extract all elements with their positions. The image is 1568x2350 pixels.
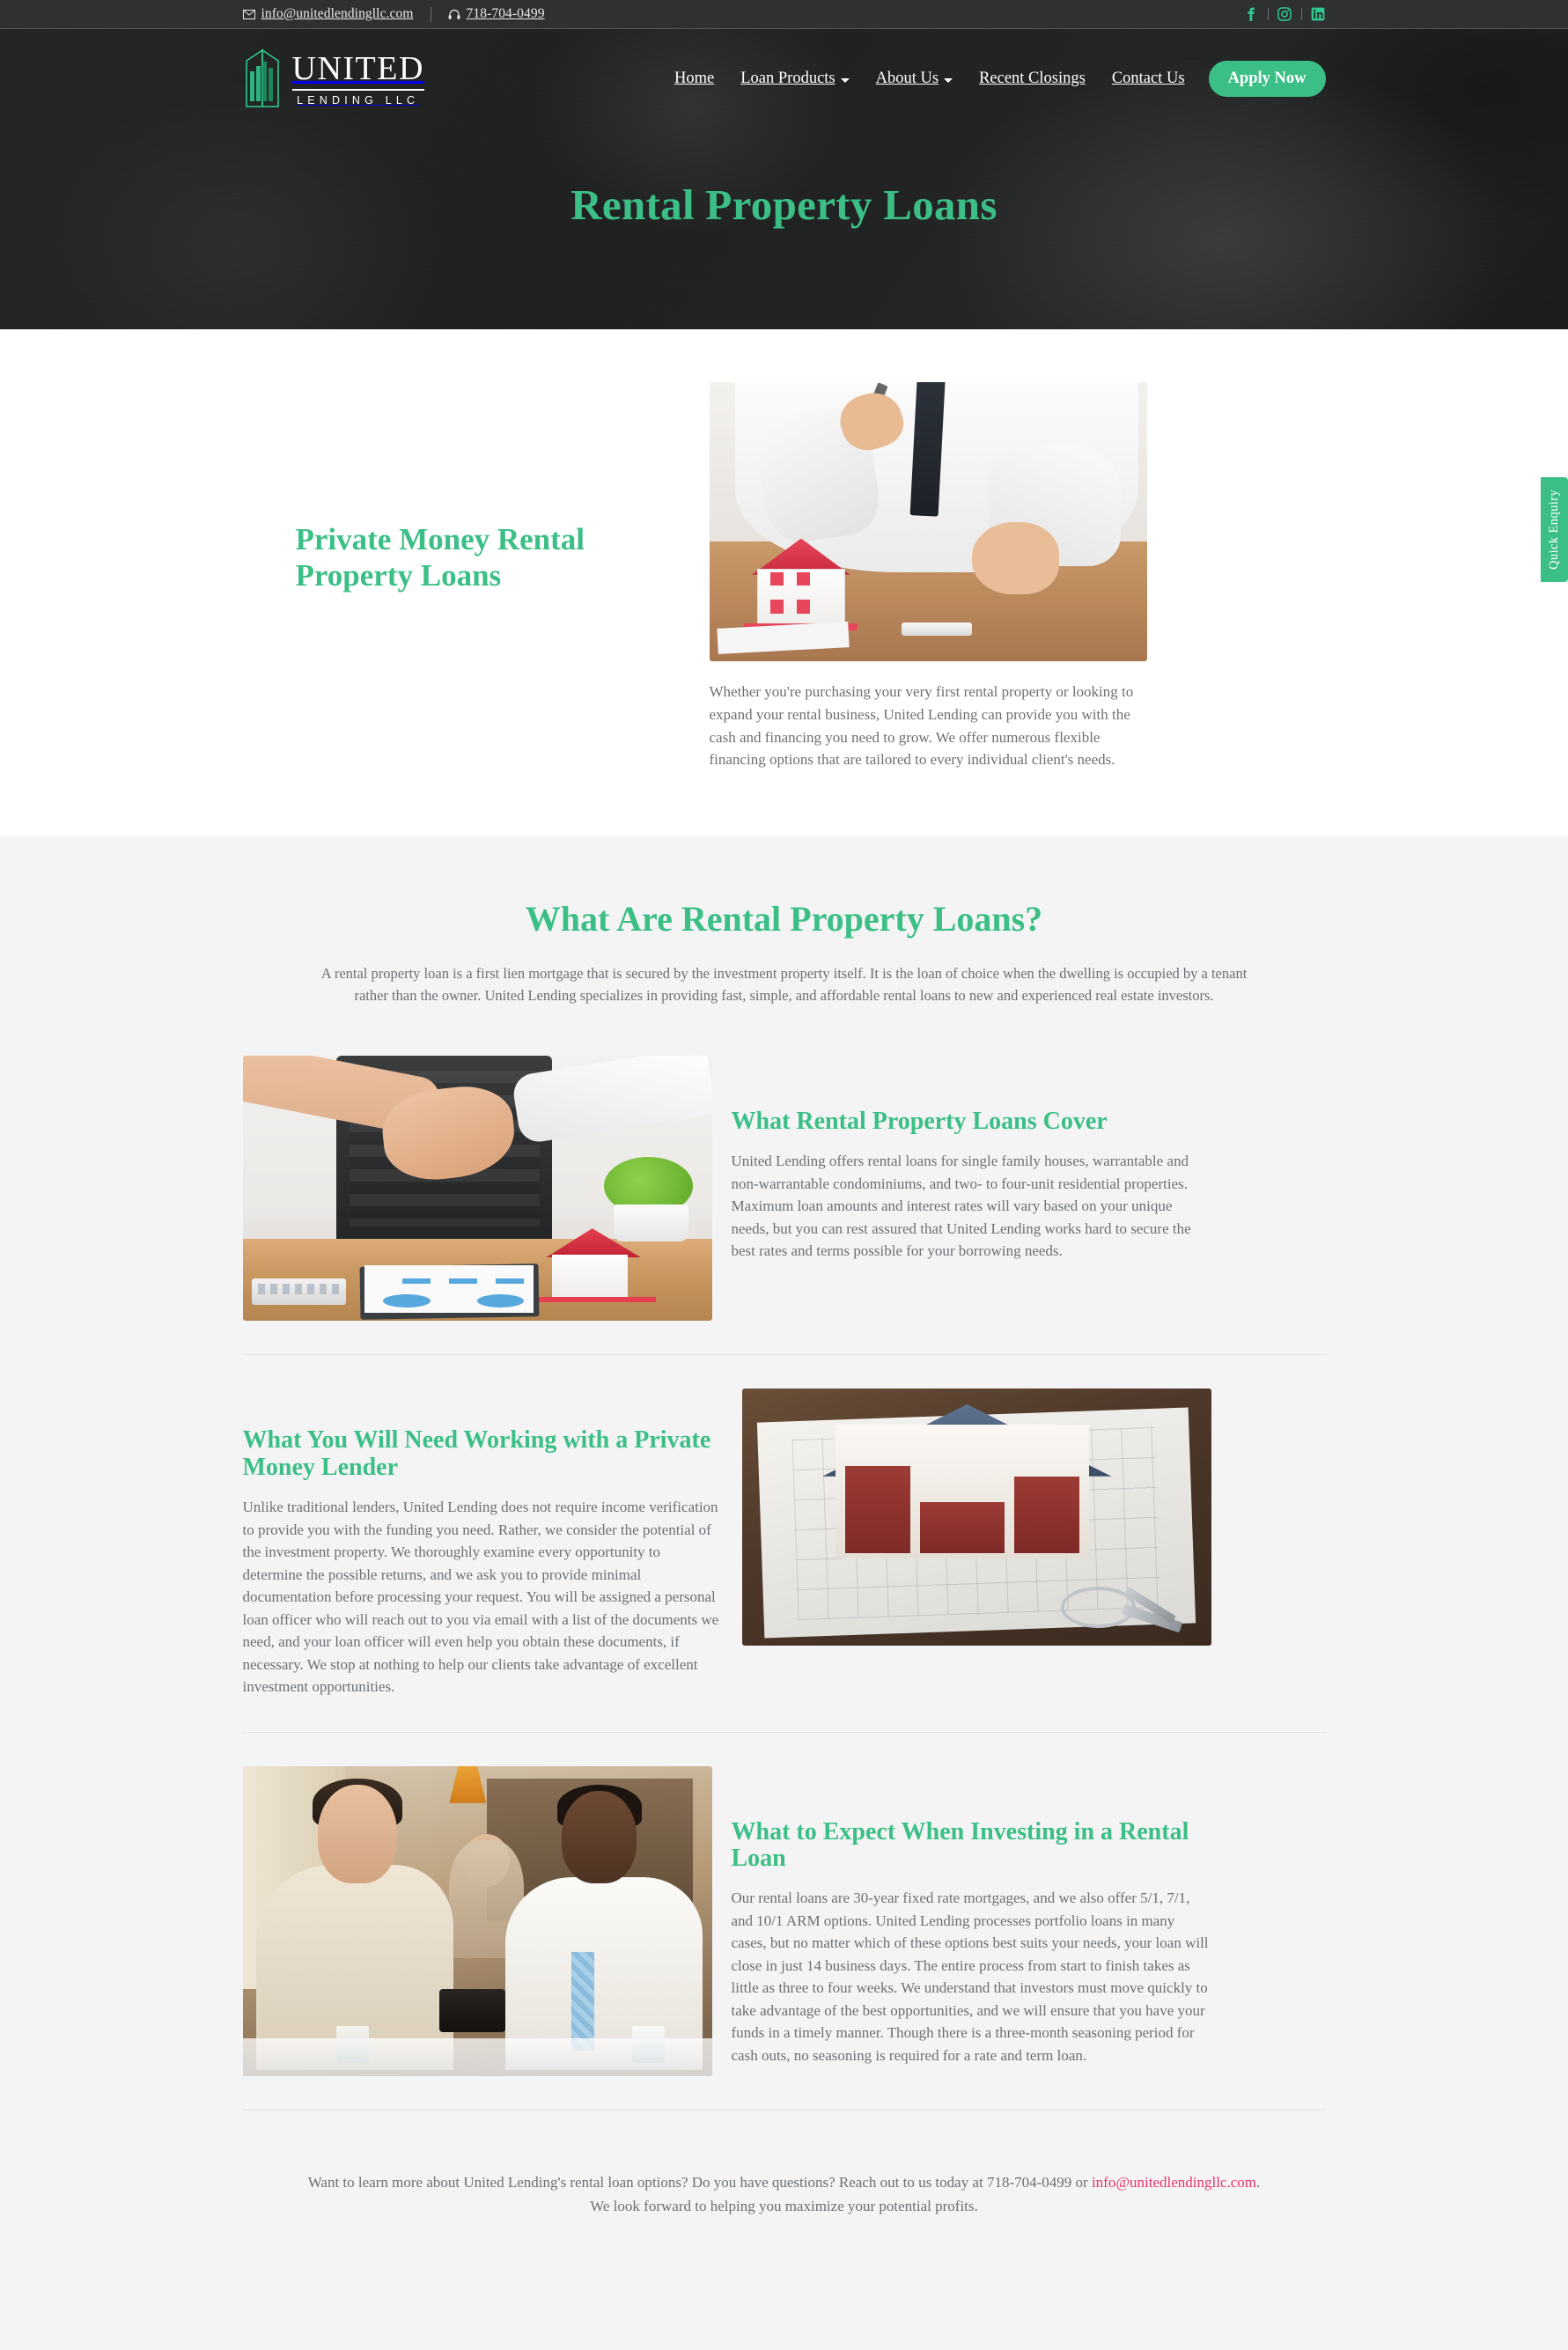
top-contact-bar: info@unitedlendingllc.com 718-704-0499 xyxy=(0,0,1568,29)
cta-text-before: Want to learn more about United Lending'… xyxy=(308,2174,1092,2191)
email-text: info@unitedlendingllc.com xyxy=(261,6,414,22)
headset-icon xyxy=(448,9,460,20)
block-heading: What Rental Property Loans Cover xyxy=(732,1109,1211,1136)
cta-text: Want to learn more about United Lending'… xyxy=(306,2144,1262,2350)
intro-section: Private Money Rental Property Loans xyxy=(0,329,1568,836)
phone-text: 718-704-0499 xyxy=(467,6,545,22)
logo-title: UNITED xyxy=(292,52,424,85)
contact-group: info@unitedlendingllc.com 718-704-0499 xyxy=(243,6,545,22)
divider xyxy=(243,2110,1326,2111)
section-title: What Are Rental Property Loans? xyxy=(243,898,1326,939)
intro-image xyxy=(710,382,1147,661)
block-paragraph: Unlike traditional lenders, United Lendi… xyxy=(243,1496,723,1698)
consultation-image xyxy=(243,1766,712,2076)
nav-item-home[interactable]: Home xyxy=(661,70,727,88)
divider xyxy=(243,1354,1326,1355)
block-paragraph: Our rental loans are 30-year fixed rate … xyxy=(732,1887,1211,2066)
page-title: Rental Property Loans xyxy=(571,180,997,230)
nav-item-about-us[interactable]: About Us xyxy=(863,70,966,88)
chevron-down-icon xyxy=(944,78,953,83)
nav-item-contact-us[interactable]: Contact Us xyxy=(1099,70,1198,88)
blueprint-house-image xyxy=(742,1389,1211,1646)
divider xyxy=(431,7,431,22)
social-links xyxy=(1244,7,1326,22)
instagram-icon[interactable] xyxy=(1277,7,1292,22)
block-heading: What You Will Need Working with a Privat… xyxy=(243,1427,723,1482)
rental-loans-section: What Are Rental Property Loans? A rental… xyxy=(0,836,1568,2350)
nav-label: Recent Closings xyxy=(979,70,1086,88)
main-navigation-bar: UNITED LENDING LLC Home Loan Products Ab… xyxy=(0,29,1568,129)
nav-label: Home xyxy=(674,70,714,88)
nav-label: Loan Products xyxy=(740,70,835,88)
block-heading: What to Expect When Investing in a Renta… xyxy=(732,1819,1211,1874)
cta-email-link[interactable]: info@unitedlendingllc.com xyxy=(1092,2174,1256,2191)
nav-menu: Home Loan Products About Us Recent Closi… xyxy=(661,61,1325,97)
content-block-cover: What Rental Property Loans Cover United … xyxy=(243,1056,1326,1354)
chevron-down-icon xyxy=(841,78,850,83)
divider xyxy=(1301,8,1302,20)
building-logo-icon xyxy=(243,48,282,110)
hero-banner: UNITED LENDING LLC Home Loan Products Ab… xyxy=(0,29,1568,329)
intro-heading: Private Money Rental Property Loans xyxy=(296,521,657,594)
envelope-icon xyxy=(243,10,255,19)
phone-link[interactable]: 718-704-0499 xyxy=(448,6,545,22)
nav-item-loan-products[interactable]: Loan Products xyxy=(727,70,862,88)
nav-label: About Us xyxy=(876,70,939,88)
divider xyxy=(1268,8,1269,20)
linkedin-icon[interactable] xyxy=(1311,7,1326,22)
quick-enquiry-tab[interactable]: Quick Enquiry xyxy=(1541,477,1568,582)
nav-item-recent-closings[interactable]: Recent Closings xyxy=(966,70,1099,88)
logo-tagline: LENDING LLC xyxy=(292,94,424,107)
facebook-icon[interactable] xyxy=(1244,7,1259,22)
email-link[interactable]: info@unitedlendingllc.com xyxy=(243,6,414,22)
block-paragraph: United Lending offers rental loans for s… xyxy=(732,1150,1211,1263)
logo-rule xyxy=(292,89,424,91)
site-logo[interactable]: UNITED LENDING LLC xyxy=(243,48,424,110)
content-block-expectations: What to Expect When Investing in a Renta… xyxy=(243,1766,1326,2110)
content-block-requirements: What You Will Need Working with a Privat… xyxy=(243,1389,1326,1731)
nav-label: Contact Us xyxy=(1112,70,1185,88)
divider xyxy=(243,1732,1326,1733)
intro-paragraph: Whether you're purchasing your very firs… xyxy=(710,681,1147,771)
apply-now-button[interactable]: Apply Now xyxy=(1209,61,1326,97)
handshake-image xyxy=(243,1056,712,1321)
section-lede: A rental property loan is a first lien m… xyxy=(306,962,1262,1006)
